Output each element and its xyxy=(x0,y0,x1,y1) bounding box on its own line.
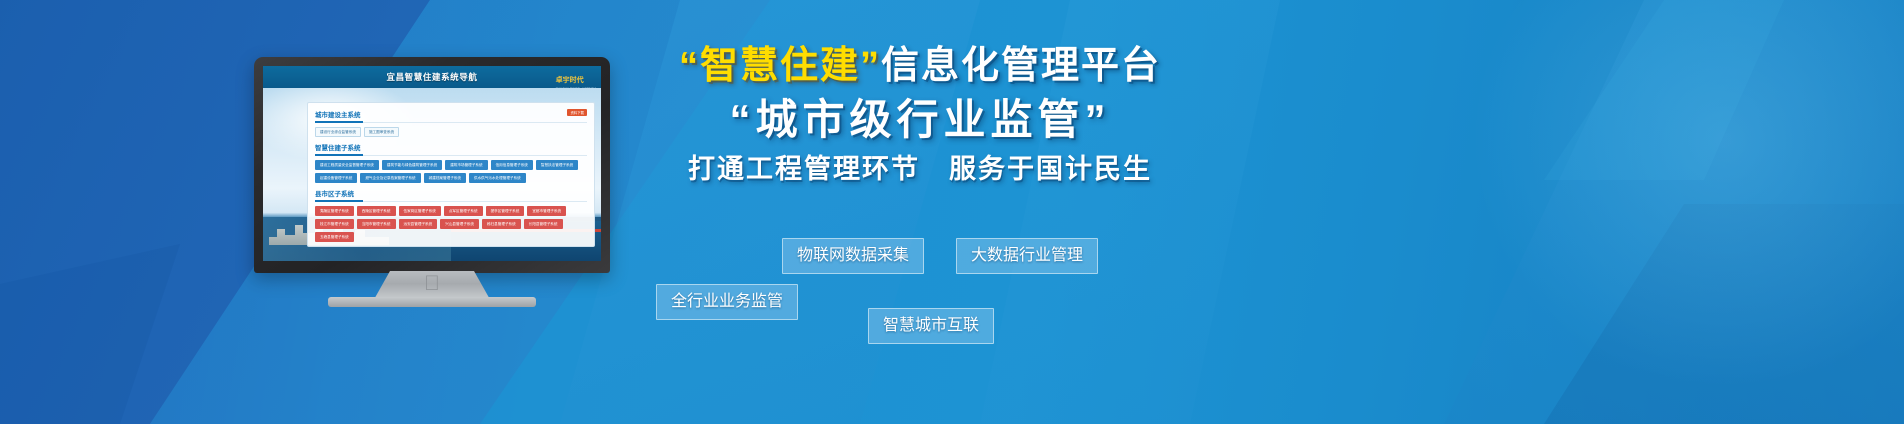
feature-pill-group: 物联网数据采集 大数据行业管理 全行业业务监管 智慧城市互联 xyxy=(640,232,1140,342)
screen-chip[interactable]: 枝江市管理子系统 xyxy=(315,219,354,229)
monitor-bezel: 宜昌智慧住建系统导航 卓宇时代 ZHUOYU TIMES · WISDOM 资料… xyxy=(254,57,610,273)
screen-chip[interactable]: 点军区管理子系统 xyxy=(444,206,483,216)
screen-chip[interactable]: 建设行业综合监管系统 xyxy=(315,127,361,137)
screen-body: 资料下载 城市建设主系统 建设行业综合监管系统 施工图审查系统 智慧住建子系统 … xyxy=(263,88,601,261)
screen-chip[interactable]: 五峰县管理子系统 xyxy=(315,232,354,242)
screen-chip[interactable]: 起重设备管理子系统 xyxy=(315,173,357,183)
screen-chip[interactable]: 城建档案管理子系统 xyxy=(424,173,466,183)
background-facet xyxy=(1544,204,1904,424)
screen-chip[interactable]: 当阳市管理子系统 xyxy=(357,219,396,229)
feature-pill-iot[interactable]: 物联网数据采集 xyxy=(782,238,924,274)
headline-highlight: 智慧住建 xyxy=(700,45,860,87)
screen-header-title: 宜昌智慧住建系统导航 xyxy=(386,71,477,83)
screen-section-title: 智慧住建子系统 xyxy=(315,142,587,156)
monitor-screen: 宜昌智慧住建系统导航 卓宇时代 ZHUOYU TIMES · WISDOM 资料… xyxy=(263,66,601,261)
screen-chip[interactable]: 夷陵区管理子系统 xyxy=(315,206,354,216)
headline-line-1: “智慧住建”信息化管理平台 xyxy=(640,42,1200,90)
headline-line-3: 打通工程管理环节 服务于国计民生 xyxy=(640,150,1200,188)
screen-chip[interactable]: 燃气企业及记录档案管理子系统 xyxy=(360,173,420,183)
screen-section-title: 城市建设主系统 xyxy=(315,109,587,123)
apple-logo-icon:  xyxy=(423,273,441,295)
screen-chip-row: 建设行业综合监管系统 施工图审查系统 xyxy=(315,127,587,137)
monitor-illustration: 宜昌智慧住建系统导航 卓宇时代 ZHUOYU TIMES · WISDOM 资料… xyxy=(254,57,610,302)
headline-rest: 信息化管理平台 xyxy=(881,45,1161,87)
headline-quote-close: ” xyxy=(860,45,881,87)
screen-chip[interactable]: 建筑节能与绿色建筑管理子系统 xyxy=(382,160,442,170)
screen-chip[interactable]: 信用信息管理子系统 xyxy=(491,160,533,170)
headline-block: “智慧住建”信息化管理平台 “城市级行业监管” 打通工程管理环节 服务于国计民生 xyxy=(640,42,1904,188)
screen-chip[interactable]: 长阳县管理子系统 xyxy=(524,219,563,229)
screen-section-title: 县市区子系统 xyxy=(315,188,587,202)
screen-chip[interactable]: 建筑市场管理子系统 xyxy=(445,160,487,170)
headline-quote-open: “ xyxy=(679,45,700,87)
screen-chip[interactable]: 秭归县管理子系统 xyxy=(482,219,521,229)
screen-chip[interactable]: 伍家岗区管理子系统 xyxy=(399,206,441,216)
screen-header: 宜昌智慧住建系统导航 卓宇时代 ZHUOYU TIMES · WISDOM xyxy=(263,66,601,88)
screen-chip[interactable]: 智慧执法管理子系统 xyxy=(536,160,578,170)
feature-pill-smartcity[interactable]: 智慧城市互联 xyxy=(868,308,994,344)
headline-line-2: “城市级行业监管” xyxy=(640,92,1200,148)
feature-pill-bigdata[interactable]: 大数据行业管理 xyxy=(956,238,1098,274)
screen-logo-main: 卓宇时代 xyxy=(556,77,584,84)
screen-chip-row: 建设工程质量安全监督管理子系统 建筑节能与绿色建筑管理子系统 建筑市场管理子系统… xyxy=(315,160,587,183)
screen-chip[interactable]: 施工图审查系统 xyxy=(364,127,399,137)
screen-nav-card: 资料下载 城市建设主系统 建设行业综合监管系统 施工图审查系统 智慧住建子系统 … xyxy=(307,102,595,247)
screen-chip[interactable]: 供水供气污水处理管理子系统 xyxy=(469,173,526,183)
screen-chip[interactable]: 建设工程质量安全监督管理子系统 xyxy=(315,160,379,170)
feature-pill-industry[interactable]: 全行业业务监管 xyxy=(656,284,798,320)
screen-chip[interactable]: 西陵区管理子系统 xyxy=(357,206,396,216)
screen-chip-row: 夷陵区管理子系统 西陵区管理子系统 伍家岗区管理子系统 点军区管理子系统 猇亭区… xyxy=(315,206,587,242)
promo-banner: 宜昌智慧住建系统导航 卓宇时代 ZHUOYU TIMES · WISDOM 资料… xyxy=(0,0,1904,424)
screen-chip[interactable]: 远安县管理子系统 xyxy=(399,219,438,229)
monitor-base xyxy=(328,297,536,307)
screen-chip[interactable]: 宜都市管理子系统 xyxy=(527,206,566,216)
screen-chip[interactable]: 猇亭区管理子系统 xyxy=(486,206,525,216)
screen-chip[interactable]: 兴山县管理子系统 xyxy=(440,219,479,229)
